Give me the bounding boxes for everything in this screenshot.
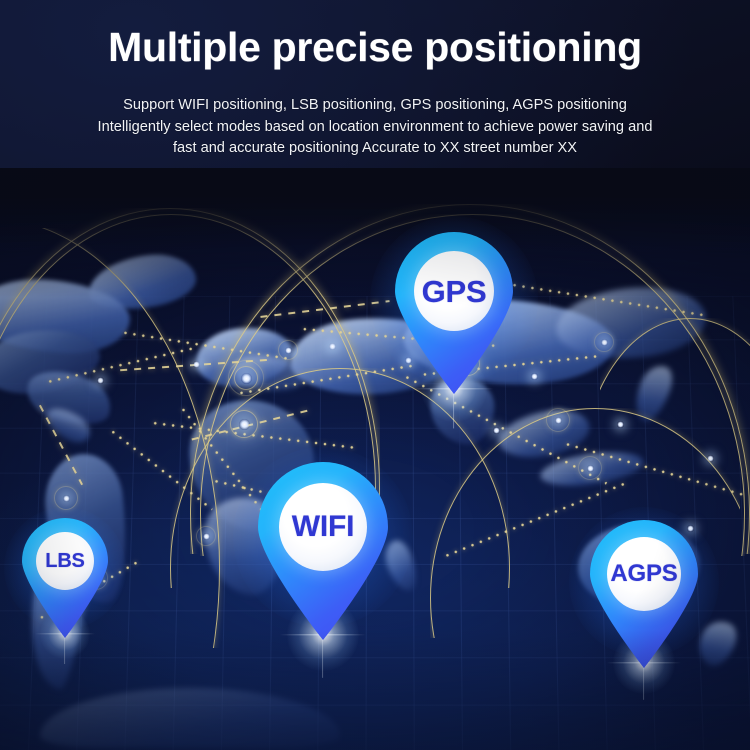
map-pin-wifi[interactable]: WIFI <box>258 462 388 640</box>
subtitle-line-1: Support WIFI positioning, LSB positionin… <box>0 95 750 117</box>
map-pin-agps[interactable]: AGPS <box>590 520 698 668</box>
pin-inner-circle: AGPS <box>607 537 681 611</box>
map-pin-gps[interactable]: GPS <box>395 232 513 394</box>
pin-label-lbs: LBS <box>45 551 84 571</box>
subtitle-line-3: fast and accurate positioning Accurate t… <box>0 138 750 160</box>
page-subtitle: Support WIFI positioning, LSB positionin… <box>0 95 750 160</box>
pin-inner-circle: WIFI <box>279 483 367 571</box>
map-pin-lbs[interactable]: LBS <box>22 518 108 638</box>
banner-header: Multiple precise positioning Support WIF… <box>0 0 750 190</box>
promo-banner: GPS WIFI <box>0 0 750 750</box>
pin-inner-circle: LBS <box>36 532 94 590</box>
pin-label-agps: AGPS <box>610 562 677 586</box>
page-title: Multiple precise positioning <box>0 21 750 73</box>
subtitle-line-2: Intelligently select modes based on loca… <box>0 117 750 139</box>
pin-label-gps: GPS <box>422 276 487 307</box>
pin-inner-circle: GPS <box>414 251 494 331</box>
pin-label-wifi: WIFI <box>292 512 355 542</box>
